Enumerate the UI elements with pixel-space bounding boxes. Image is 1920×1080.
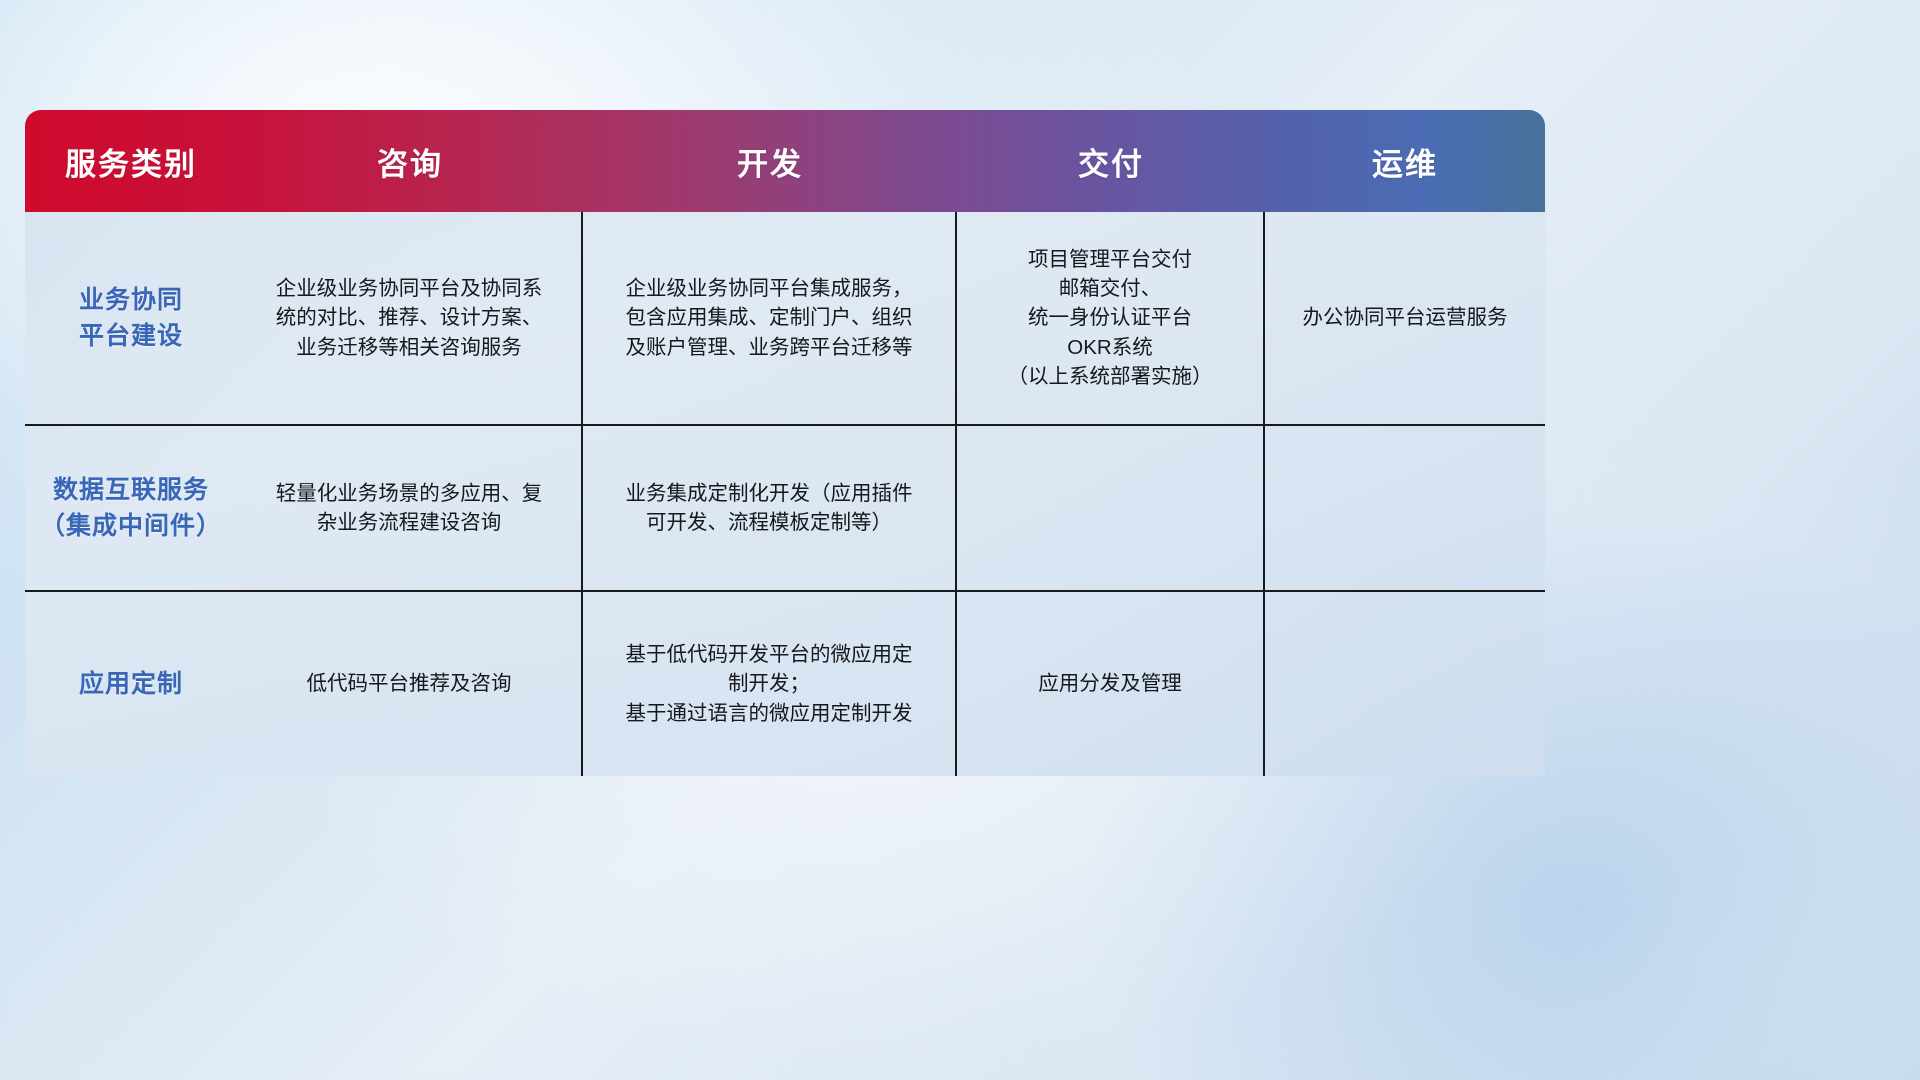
cell-consulting: 低代码平台推荐及咨询 <box>237 592 583 776</box>
cell-development: 基于低代码开发平台的微应用定 制开发； 基于通过语言的微应用定制开发 <box>583 592 957 776</box>
cell-delivery <box>957 426 1265 590</box>
cell-consulting: 企业级业务协同平台及协同系 统的对比、推荐、设计方案、 业务迁移等相关咨询服务 <box>237 212 583 424</box>
column-header-consulting: 咨询 <box>237 110 583 212</box>
cell-delivery: 应用分发及管理 <box>957 592 1265 776</box>
service-matrix-table: 服务类别 咨询 开发 交付 运维 业务协同 平台建设 企业级业务协同平台及协同系… <box>25 110 1545 776</box>
table-body: 业务协同 平台建设 企业级业务协同平台及协同系 统的对比、推荐、设计方案、 业务… <box>25 212 1545 776</box>
cell-operations: 办公协同平台运营服务 <box>1265 212 1545 424</box>
table-row: 业务协同 平台建设 企业级业务协同平台及协同系 统的对比、推荐、设计方案、 业务… <box>25 212 1545 424</box>
table-header-row: 服务类别 咨询 开发 交付 运维 <box>25 110 1545 212</box>
table-row: 应用定制 低代码平台推荐及咨询 基于低代码开发平台的微应用定 制开发； 基于通过… <box>25 590 1545 776</box>
cell-development: 企业级业务协同平台集成服务， 包含应用集成、定制门户、组织 及账户管理、业务跨平… <box>583 212 957 424</box>
cell-consulting: 轻量化业务场景的多应用、复 杂业务流程建设咨询 <box>237 426 583 590</box>
cell-operations <box>1265 592 1545 776</box>
column-header-development: 开发 <box>583 110 957 212</box>
cell-operations <box>1265 426 1545 590</box>
row-category-label: 业务协同 平台建设 <box>25 212 237 424</box>
row-category-label: 数据互联服务 （集成中间件） <box>25 426 237 590</box>
column-header-service-category: 服务类别 <box>25 110 237 212</box>
cell-delivery: 项目管理平台交付 邮箱交付、 统一身份认证平台 OKR系统 （以上系统部署实施） <box>957 212 1265 424</box>
table-row: 数据互联服务 （集成中间件） 轻量化业务场景的多应用、复 杂业务流程建设咨询 业… <box>25 424 1545 590</box>
column-header-operations: 运维 <box>1265 110 1545 212</box>
column-header-delivery: 交付 <box>957 110 1265 212</box>
row-category-label: 应用定制 <box>25 592 237 776</box>
cell-development: 业务集成定制化开发（应用插件 可开发、流程模板定制等） <box>583 426 957 590</box>
